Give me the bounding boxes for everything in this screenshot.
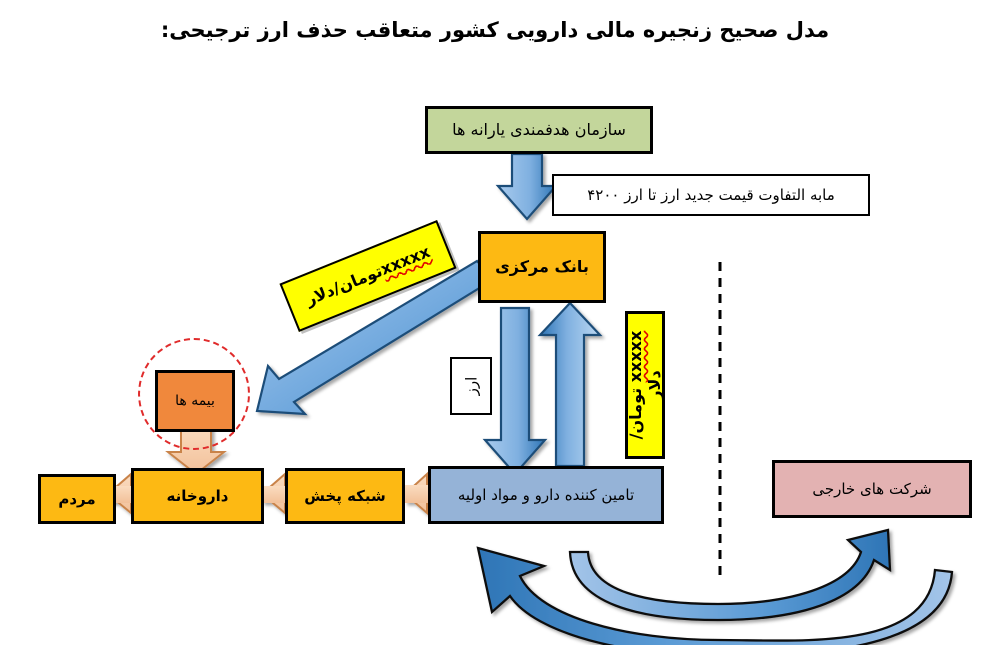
- label-price-difference: مابه التفاوت قیمت جدید ارز تا ارز ۴۲۰۰: [552, 174, 870, 216]
- label-currency: ارز: [450, 357, 492, 415]
- arrow-foreign-to-supplier-curved: [478, 548, 952, 645]
- node-people[interactable]: مردم: [38, 474, 116, 524]
- arrow-central-bank-to-supplier: [485, 308, 545, 474]
- node-subsidy-organization[interactable]: سازمان هدفمندی یارانه ها: [425, 106, 653, 154]
- node-central-bank[interactable]: بانک مرکزی: [478, 231, 606, 303]
- node-insurance[interactable]: بیمه ها: [155, 370, 235, 432]
- label-exchange-rate-left: xxxxxتومان/دلار: [279, 220, 456, 332]
- arrow-supplier-to-central-bank: [540, 303, 600, 466]
- arrow-subsidy-to-central-bank: [498, 154, 556, 219]
- label-rate-unit-left: تومان/دلار: [303, 262, 385, 310]
- arrow-layer: [0, 0, 990, 645]
- page-title: مدل صحیح زنجیره مالی دارویی کشور متعاقب …: [0, 18, 990, 42]
- node-supplier[interactable]: تامین کننده دارو و مواد اولیه: [428, 466, 664, 524]
- label-rate-amount-right: xxxxx: [626, 331, 645, 383]
- label-currency-text: ارز: [462, 377, 480, 396]
- label-exchange-rate-right: xxxxx تومان/دلار: [625, 311, 665, 459]
- diagram-canvas: مدل صحیح زنجیره مالی دارویی کشور متعاقب …: [0, 0, 990, 645]
- node-foreign-companies[interactable]: شرکت های خارجی: [772, 460, 972, 518]
- label-rate-amount-left: xxxxx: [378, 242, 433, 279]
- node-distribution-network[interactable]: شبکه پخش: [285, 468, 405, 524]
- node-pharmacy[interactable]: داروخانه: [131, 468, 264, 524]
- arrow-supplier-to-foreign-curved: [570, 530, 890, 620]
